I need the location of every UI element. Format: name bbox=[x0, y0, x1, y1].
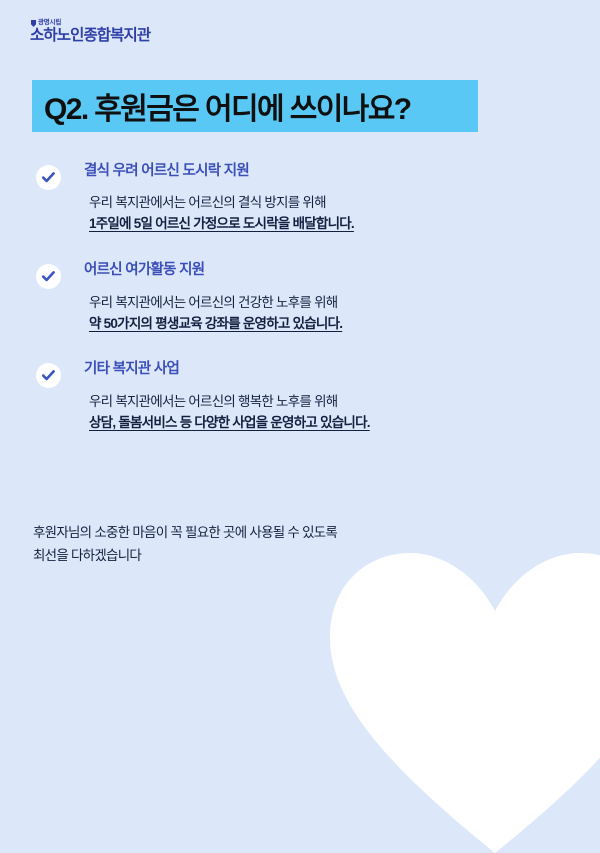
list-item-body: 어르신 여가활동 지원 우리 복지관에서는 어르신의 건강한 노후를 위해 약 … bbox=[36, 262, 556, 334]
list-item-lines: 우리 복지관에서는 어르신의 건강한 노후를 위해 약 50가지의 평생교육 강… bbox=[84, 293, 556, 335]
list-item-line-2: 상담, 돌봄서비스 등 다양한 사업을 운영하고 있습니다. bbox=[89, 413, 556, 434]
organization-logo: 광명시립 소하노인종합복지관 bbox=[30, 20, 150, 44]
list-item-line-2: 1주일에 5일 어르신 가정으로 도시락을 배달합니다. bbox=[89, 214, 556, 235]
page-title: Q2. 후원금은 어디에 쓰이나요? bbox=[32, 84, 411, 128]
logo-kicker-text: 광명시립 bbox=[38, 20, 61, 27]
list-item-heading: 기타 복지관 사업 bbox=[84, 361, 556, 378]
closing-message: 후원자님의 소중한 마음이 꼭 필요한 곳에 사용될 수 있도록 최선을 다하겠… bbox=[33, 521, 533, 567]
list-item-lines: 우리 복지관에서는 어르신의 행복한 노후를 위해 상담, 돌봄서비스 등 다양… bbox=[84, 392, 556, 434]
benefits-checklist: 결식 우려 어르신 도시락 지원 우리 복지관에서는 어르신의 결식 방지를 위… bbox=[36, 163, 556, 434]
list-item-line-1: 우리 복지관에서는 어르신의 건강한 노후를 위해 bbox=[89, 293, 556, 314]
closing-line-2: 최선을 다하겠습니다 bbox=[33, 544, 533, 567]
title-banner: Q2. 후원금은 어디에 쓰이나요? bbox=[32, 80, 478, 132]
list-item-line-2: 약 50가지의 평생교육 강좌를 운영하고 있습니다. bbox=[89, 314, 556, 335]
list-item: 어르신 여가활동 지원 우리 복지관에서는 어르신의 건강한 노후를 위해 약 … bbox=[36, 262, 556, 334]
check-circle-icon bbox=[36, 165, 61, 190]
list-item-body: 기타 복지관 사업 우리 복지관에서는 어르신의 행복한 노후를 위해 상담, … bbox=[36, 361, 556, 433]
list-item-lines: 우리 복지관에서는 어르신의 결식 방지를 위해 1주일에 5일 어르신 가정으… bbox=[84, 193, 556, 235]
list-item-line-1: 우리 복지관에서는 어르신의 결식 방지를 위해 bbox=[89, 193, 556, 214]
list-item-heading: 결식 우려 어르신 도시락 지원 bbox=[84, 163, 556, 180]
list-item-body: 결식 우려 어르신 도시락 지원 우리 복지관에서는 어르신의 결식 방지를 위… bbox=[36, 163, 556, 235]
logo-kicker-row: 광명시립 bbox=[31, 20, 150, 27]
closing-line-1: 후원자님의 소중한 마음이 꼭 필요한 곳에 사용될 수 있도록 bbox=[33, 521, 533, 544]
list-item: 결식 우려 어르신 도시락 지원 우리 복지관에서는 어르신의 결식 방지를 위… bbox=[36, 163, 556, 235]
list-item-heading: 어르신 여가활동 지원 bbox=[84, 262, 556, 279]
infographic-card: 광명시립 소하노인종합복지관 Q2. 후원금은 어디에 쓰이나요? 결식 우려 … bbox=[0, 0, 600, 750]
bookmark-mark-icon bbox=[31, 20, 36, 27]
logo-name: 소하노인종합복지관 bbox=[30, 28, 150, 44]
list-item-line-1: 우리 복지관에서는 어르신의 행복한 노후를 위해 bbox=[89, 392, 556, 413]
list-item: 기타 복지관 사업 우리 복지관에서는 어르신의 행복한 노후를 위해 상담, … bbox=[36, 361, 556, 433]
